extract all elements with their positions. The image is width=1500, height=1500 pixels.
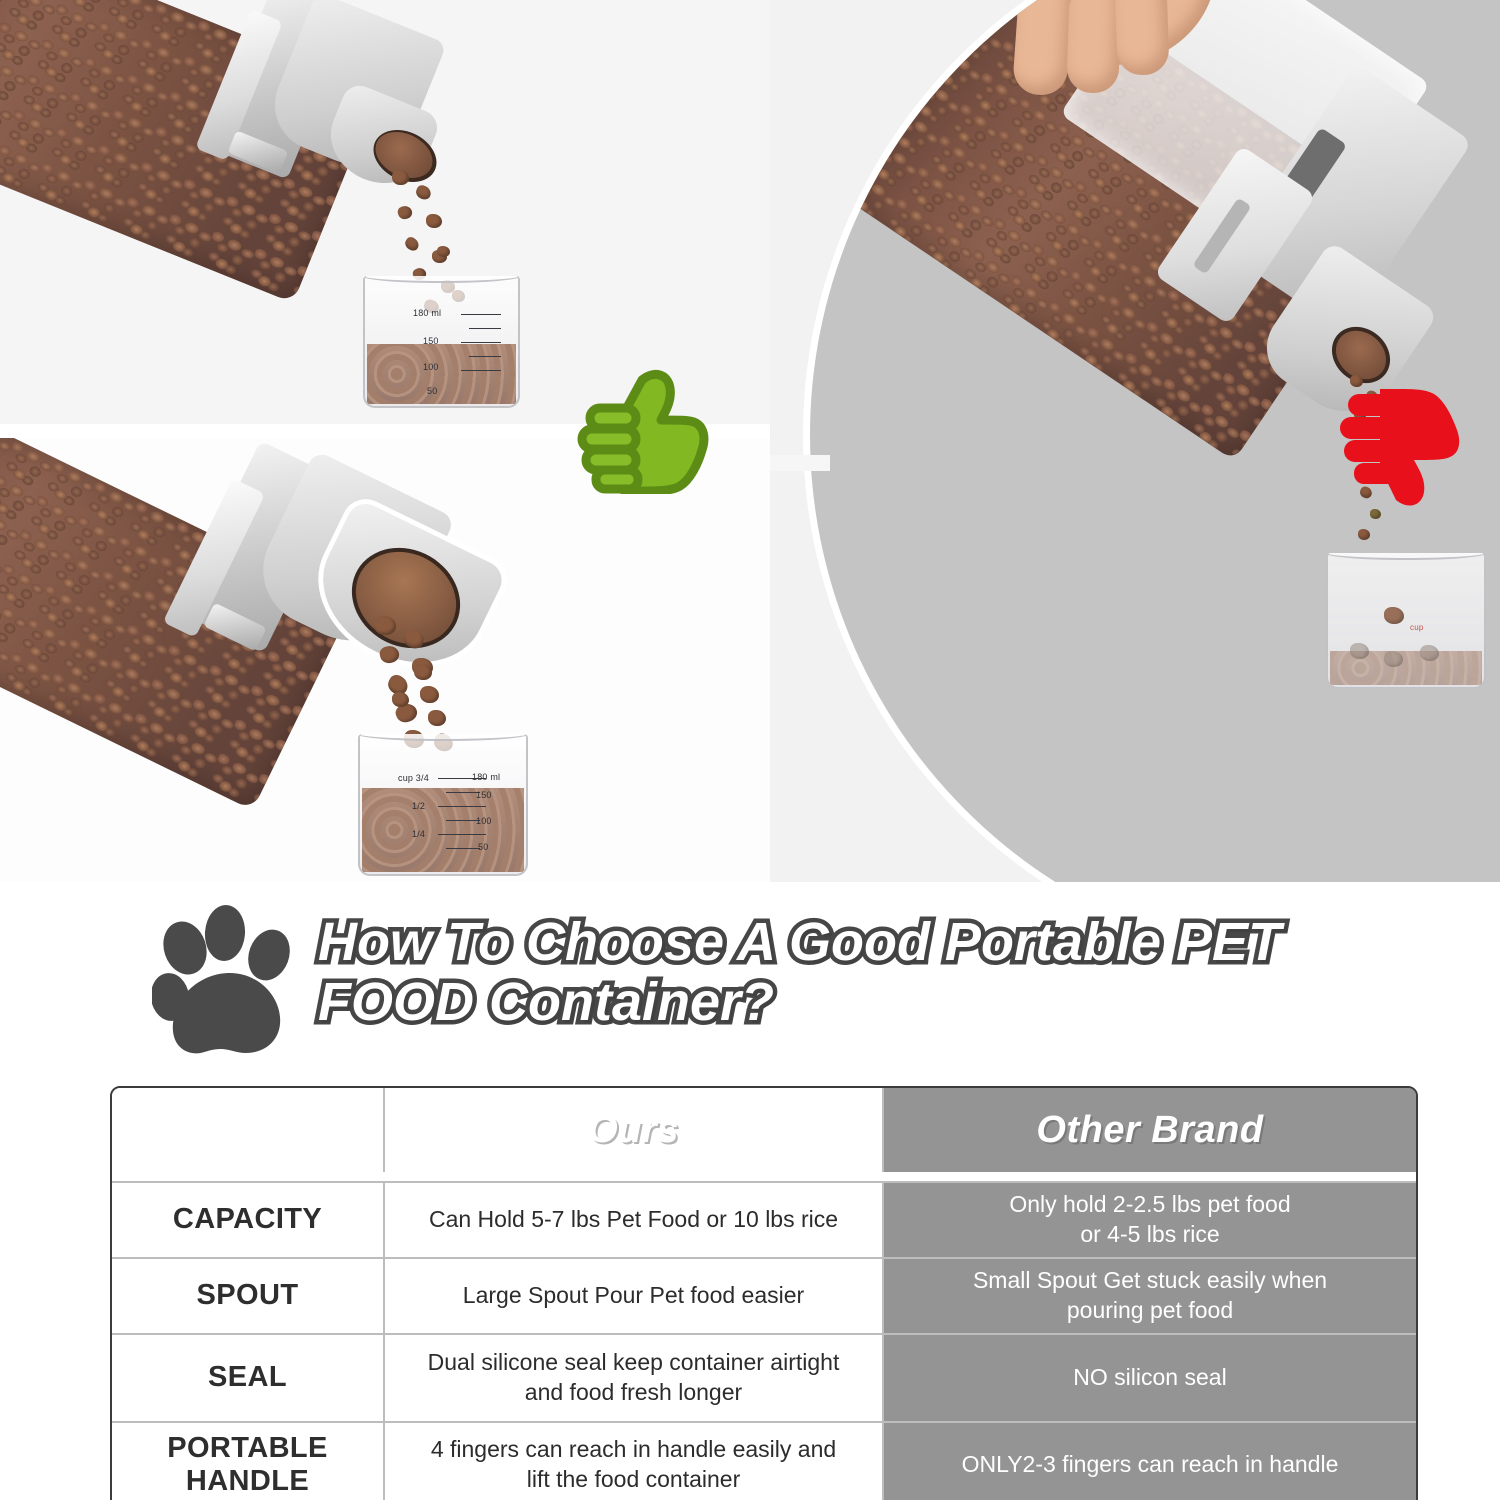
- row-other-text: Only hold 2-2.5 lbs pet foodor 4-5 lbs r…: [1009, 1190, 1290, 1250]
- thumbs-down-icon: [1332, 378, 1472, 514]
- comparison-table: Ours Other Brand CAPACITY Can Hold 5-7 l…: [110, 1086, 1418, 1500]
- row-feature-label: PORTABLEHANDLE: [167, 1432, 328, 1498]
- cup-scale-1-4: 1/4: [412, 829, 425, 839]
- table-header-other-label: Other Brand: [1036, 1109, 1263, 1152]
- row-ours-text: Dual silicone seal keep container airtig…: [428, 1348, 840, 1408]
- paw-print-icon: [152, 905, 302, 1060]
- thumbs-up-icon: [572, 366, 720, 494]
- cup-scale-50: 50: [427, 386, 437, 396]
- table-row: PORTABLEHANDLE 4 fingers can reach in ha…: [112, 1421, 1416, 1500]
- product-infographic: 180 ml 150 100 50: [0, 0, 1500, 1500]
- row-ours-text: Can Hold 5-7 lbs Pet Food or 10 lbs rice: [429, 1205, 838, 1235]
- row-feature-label: SPOUT: [197, 1279, 299, 1312]
- row-feature-cell: PORTABLEHANDLE: [112, 1423, 385, 1500]
- table-row: SEAL Dual silicone seal keep container a…: [112, 1333, 1416, 1421]
- measuring-cup-other: cup: [1326, 553, 1486, 689]
- row-ours-cell: Dual silicone seal keep container airtig…: [385, 1335, 884, 1421]
- row-other-text: Small Spout Get stuck easily whenpouring…: [973, 1266, 1327, 1326]
- page-title-line1: How To Choose A Good Portable PET: [318, 912, 1428, 972]
- table-header-row: Ours Other Brand: [112, 1088, 1416, 1172]
- row-ours-cell: Large Spout Pour Pet food easier: [385, 1259, 884, 1333]
- photo-ours-pour-bottom: cup 3/4 1/2 1/4 180 ml 150 100 50: [0, 438, 770, 882]
- row-feature-cell: SEAL: [112, 1335, 385, 1421]
- table-header-other: Other Brand: [884, 1088, 1416, 1172]
- row-ours-text: Large Spout Pour Pet food easier: [463, 1281, 804, 1311]
- photo-ours-pour-top: 180 ml 150 100 50: [0, 0, 770, 424]
- row-feature-cell: SPOUT: [112, 1259, 385, 1333]
- page-title-line2: FOOD Container?: [318, 972, 1428, 1032]
- cup-scale-cup-3-4: cup 3/4: [398, 773, 429, 783]
- measuring-cup: 180 ml 150 100 50: [363, 276, 520, 408]
- photo-other-brand-pour: cup: [770, 0, 1500, 882]
- row-feature-cell: CAPACITY: [112, 1183, 385, 1257]
- row-other-cell: Only hold 2-2.5 lbs pet foodor 4-5 lbs r…: [884, 1183, 1416, 1257]
- cup-scale-180-ml: 180 ml: [472, 772, 500, 782]
- hero-image-band: 180 ml 150 100 50: [0, 0, 1500, 882]
- row-feature-label: SEAL: [208, 1361, 287, 1394]
- page-title: How To Choose A Good Portable PET FOOD C…: [318, 912, 1428, 1033]
- cup-scale-150-ml: 150: [476, 790, 492, 800]
- measuring-cup-large: cup 3/4 1/2 1/4 180 ml 150 100 50: [358, 734, 528, 876]
- table-header-ours-label: Ours: [588, 1109, 679, 1152]
- table-row: CAPACITY Can Hold 5-7 lbs Pet Food or 10…: [112, 1181, 1416, 1257]
- cup-scale-100: 100: [423, 362, 439, 372]
- cup-scale-180ml: 180 ml: [413, 308, 441, 318]
- cup-scale-50-ml: 50: [478, 842, 488, 852]
- table-header-gap: [112, 1172, 1416, 1181]
- cup-scale-100-ml: 100: [476, 816, 492, 826]
- row-other-text: NO silicon seal: [1073, 1363, 1226, 1393]
- table-header-feature: [112, 1088, 385, 1172]
- row-other-cell: NO silicon seal: [884, 1335, 1416, 1421]
- cup-scale-150: 150: [423, 336, 439, 346]
- row-feature-label: CAPACITY: [173, 1203, 322, 1236]
- row-ours-cell: 4 fingers can reach in handle easily and…: [385, 1423, 884, 1500]
- row-other-cell: ONLY2-3 fingers can reach in handle: [884, 1423, 1416, 1500]
- row-ours-cell: Can Hold 5-7 lbs Pet Food or 10 lbs rice: [385, 1183, 884, 1257]
- table-row: SPOUT Large Spout Pour Pet food easier S…: [112, 1257, 1416, 1333]
- table-header-ours: Ours: [385, 1088, 884, 1172]
- row-other-text: ONLY2-3 fingers can reach in handle: [962, 1450, 1339, 1480]
- cup-scale-1-2: 1/2: [412, 801, 425, 811]
- row-ours-text: 4 fingers can reach in handle easily and…: [431, 1435, 836, 1495]
- row-other-cell: Small Spout Get stuck easily whenpouring…: [884, 1259, 1416, 1333]
